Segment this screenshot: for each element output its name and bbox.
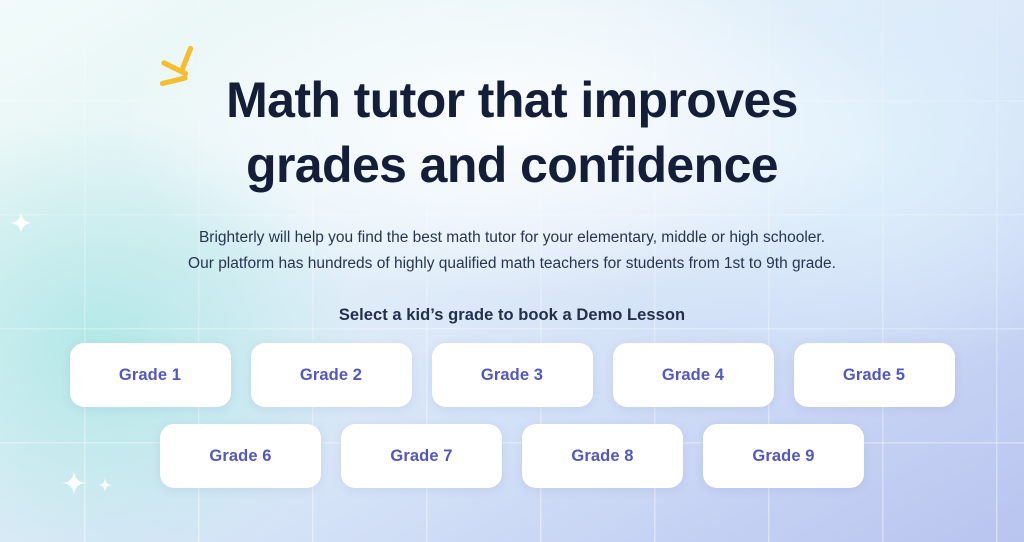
grade-button-9[interactable]: Grade 9 [703, 424, 864, 488]
grade-select-prompt: Select a kid’s grade to book a Demo Less… [339, 306, 685, 325]
grade-button-2[interactable]: Grade 2 [251, 343, 412, 407]
subtitle-line-2: Our platform has hundreds of highly qual… [188, 251, 836, 277]
grade-button-1[interactable]: Grade 1 [70, 343, 231, 407]
hero-content: Math tutor that improves grades and conf… [0, 0, 1024, 542]
headline-line-2: grades and confidence [246, 137, 778, 193]
headline-line-1: Math tutor that improves [226, 72, 798, 128]
headline-wrapper: Math tutor that improves grades and conf… [0, 0, 1024, 198]
grade-button-8[interactable]: Grade 8 [522, 424, 683, 488]
grade-button-3[interactable]: Grade 3 [432, 343, 593, 407]
hero-subtitle: Brighterly will help you find the best m… [188, 225, 836, 276]
grade-button-4[interactable]: Grade 4 [613, 343, 774, 407]
grade-row-2: Grade 6 Grade 7 Grade 8 Grade 9 [0, 424, 1024, 488]
grade-button-group: Grade 1 Grade 2 Grade 3 Grade 4 Grade 5 … [0, 343, 1024, 488]
hero-section: Math tutor that improves grades and conf… [0, 0, 1024, 542]
grade-button-5[interactable]: Grade 5 [794, 343, 955, 407]
page-title: Math tutor that improves grades and conf… [0, 68, 1024, 198]
subtitle-line-1: Brighterly will help you find the best m… [188, 225, 836, 251]
grade-row-1: Grade 1 Grade 2 Grade 3 Grade 4 Grade 5 [0, 343, 1024, 407]
grade-button-7[interactable]: Grade 7 [341, 424, 502, 488]
grade-button-6[interactable]: Grade 6 [160, 424, 321, 488]
